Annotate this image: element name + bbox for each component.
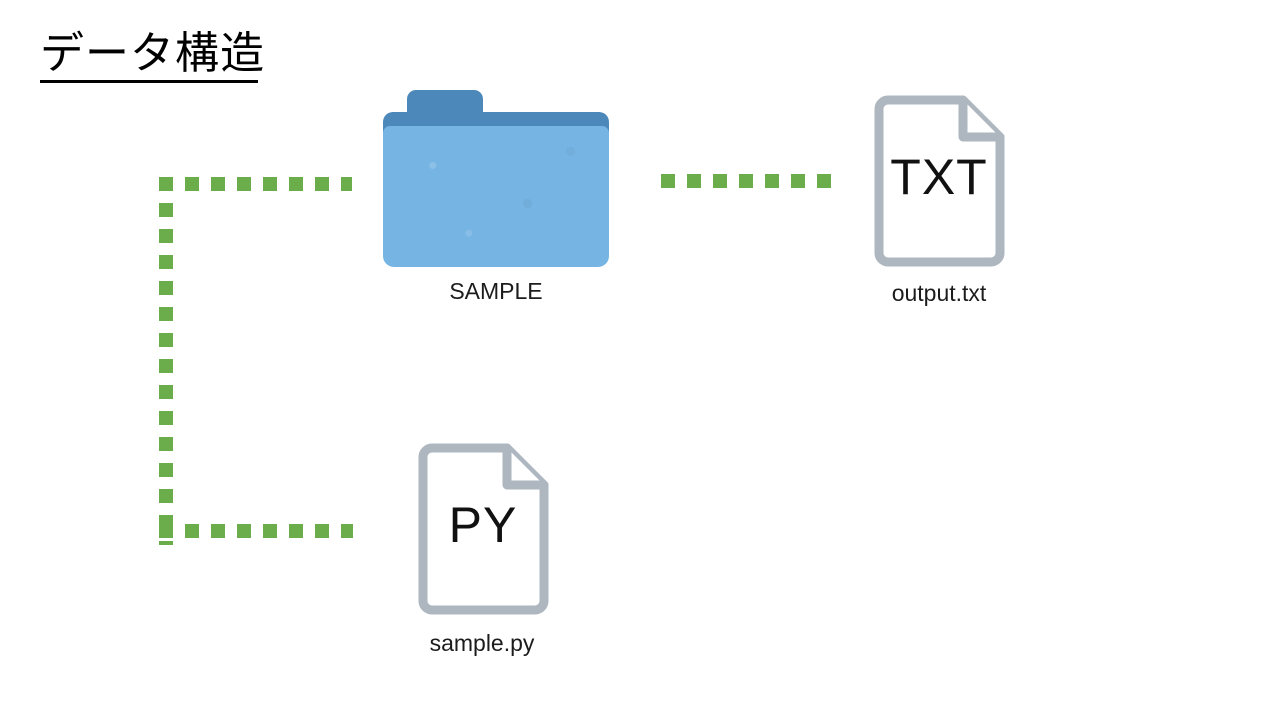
document-icon-script[interactable]: PY bbox=[417, 443, 549, 615]
folder-icon[interactable] bbox=[383, 90, 609, 270]
document-icon-output[interactable]: TXT bbox=[873, 95, 1005, 267]
document-extension-text: PY bbox=[417, 500, 549, 550]
connector-folder-to-output bbox=[661, 174, 833, 188]
page-title: データ構造 bbox=[40, 28, 265, 80]
connector-folder-to-script-vertical bbox=[159, 177, 173, 545]
document-extension-text: TXT bbox=[873, 152, 1005, 202]
title-underline bbox=[40, 80, 258, 83]
script-file-label: sample.py bbox=[403, 629, 561, 657]
folder-front-shape bbox=[383, 126, 609, 267]
folder-label: SAMPLE bbox=[383, 277, 609, 305]
connector-folder-to-script-bottom bbox=[159, 524, 353, 538]
connector-folder-to-script-top bbox=[159, 177, 352, 191]
output-file-label: output.txt bbox=[860, 279, 1018, 307]
